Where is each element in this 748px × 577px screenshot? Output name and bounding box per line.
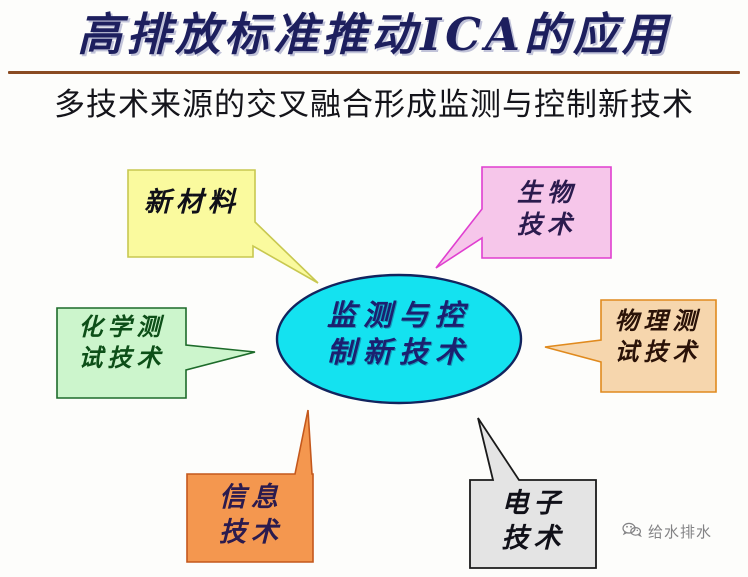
watermark-label: 给水排水 (648, 521, 712, 542)
callout-new-material[interactable] (128, 170, 318, 283)
callout-chemical-test[interactable] (57, 308, 255, 398)
slide-canvas: 高排放标准推动ICA的应用 多技术来源的交叉融合形成监测与控制新技术 新材料 生… (0, 0, 748, 577)
center-node-ellipse[interactable] (277, 275, 521, 403)
callout-information-tech[interactable] (187, 410, 313, 562)
watermark: 给水排水 (622, 521, 712, 542)
callout-electronic-tech[interactable] (470, 418, 596, 568)
mind-map-diagram (0, 0, 748, 577)
wechat-icon (622, 522, 642, 542)
callout-physical-test[interactable] (545, 300, 716, 392)
callout-bio-tech[interactable] (436, 167, 611, 268)
